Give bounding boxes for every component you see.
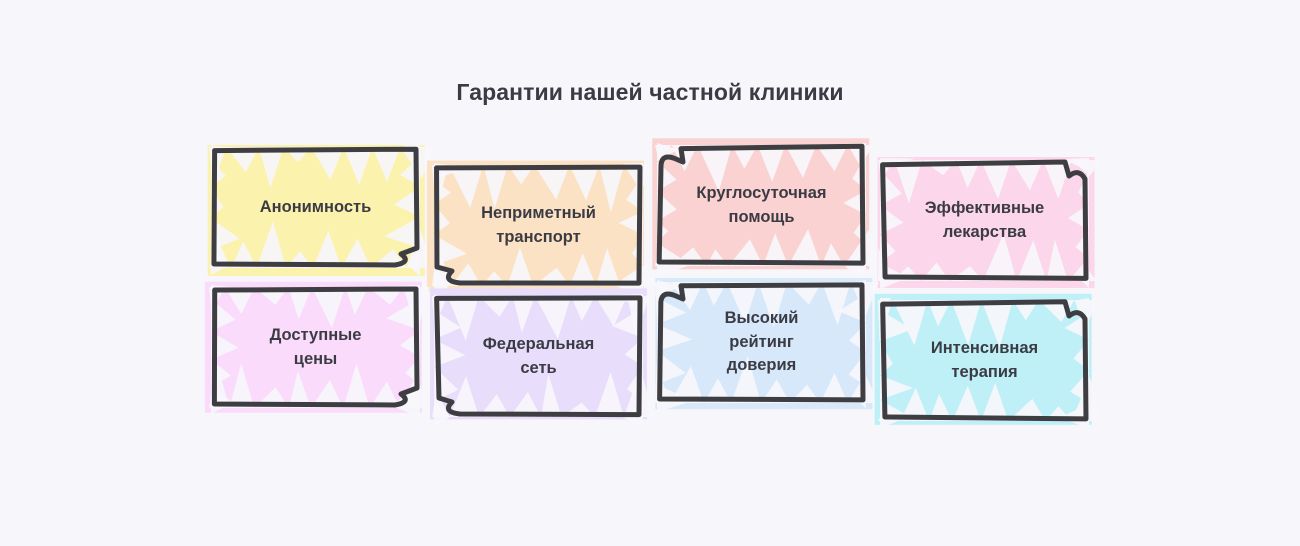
guarantees-infographic: Гарантии нашей частной клиники Анонимнос… <box>0 0 1300 546</box>
guarantee-card-affordable-prices: Доступные цены <box>213 289 418 406</box>
guarantee-card-anonymity: Анонимность <box>213 149 418 266</box>
card-marker-fill <box>430 288 654 428</box>
guarantee-card-effective-medicines: Эффективные лекарства <box>882 162 1087 279</box>
card-marker-fill <box>652 138 882 279</box>
card-marker-fill <box>427 161 658 299</box>
guarantee-card-intensive-therapy: Интенсивная терапия <box>882 302 1087 419</box>
guarantee-card-discreet-transport: Неприметный транспорт <box>436 167 641 284</box>
guarantee-card-high-trust-rating: Высокий рейтинг доверия <box>659 284 864 401</box>
guarantee-card-federal-network: Федеральная сеть <box>436 298 641 415</box>
card-marker-fill <box>655 278 879 412</box>
guarantee-cards-grid: АнонимностьНеприметный транспортКруглосу… <box>0 0 1300 546</box>
guarantee-card-round-the-clock-help: Круглосуточная помощь <box>659 147 864 264</box>
card-marker-fill <box>205 282 430 418</box>
